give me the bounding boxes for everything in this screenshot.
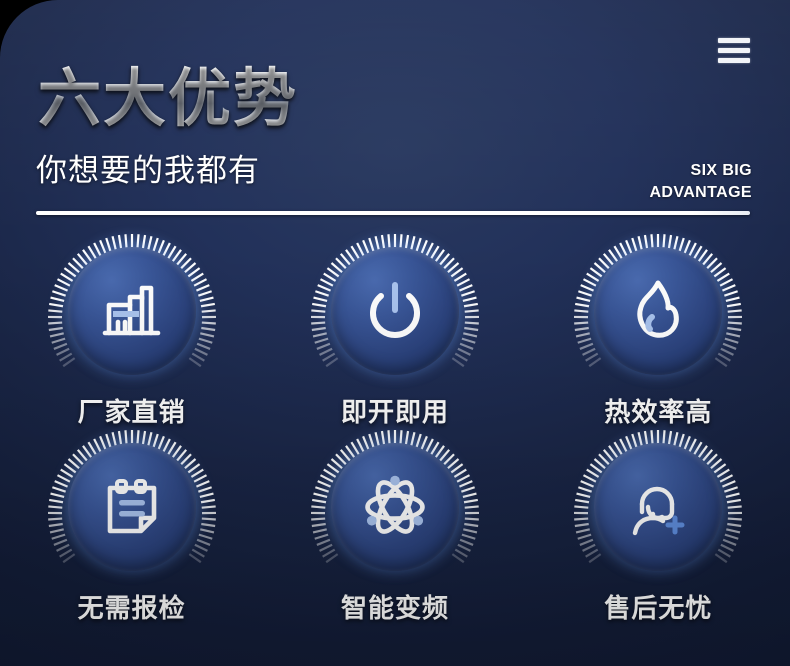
hamburger-bar-3 <box>718 58 750 63</box>
dial-gauge <box>572 428 744 586</box>
promo-banner: 六大优势 你想要的我都有 SIX BIG ADVANTAGE <box>0 0 790 666</box>
dial-gauge <box>309 428 481 586</box>
flame-icon <box>622 275 694 347</box>
feature-label: 无需报检 <box>78 592 186 624</box>
feature-label: 售后无忧 <box>604 592 712 624</box>
icon-disc <box>68 443 196 571</box>
eyebrow-line-2: ADVANTAGE <box>649 182 752 204</box>
page-subtitle: 你想要的我都有 <box>36 152 260 190</box>
hamburger-menu-icon[interactable] <box>718 38 750 63</box>
feature-label: 厂家直销 <box>78 396 186 428</box>
feature-item-no-inspection[interactable]: 无需报检 <box>0 428 263 624</box>
factory-icon <box>96 275 168 347</box>
hamburger-bar-2 <box>718 48 750 53</box>
feature-label: 智能变频 <box>341 592 449 624</box>
feature-item-plug-and-play[interactable]: 即开即用 <box>263 232 526 428</box>
feature-item-thermal-efficiency[interactable]: 热效率高 <box>527 232 790 428</box>
icon-disc <box>594 443 722 571</box>
headset-support-icon <box>622 471 694 543</box>
clipboard-note-icon <box>96 471 168 543</box>
power-button-icon <box>359 275 431 347</box>
feature-label: 热效率高 <box>604 396 712 428</box>
dial-gauge <box>46 232 218 390</box>
dial-gauge <box>309 232 481 390</box>
icon-disc <box>594 247 722 375</box>
banner-panel: 六大优势 你想要的我都有 SIX BIG ADVANTAGE <box>0 0 790 666</box>
icon-disc <box>68 247 196 375</box>
eyebrow-line-1: SIX BIG <box>649 160 752 182</box>
english-eyebrow: SIX BIG ADVANTAGE <box>649 160 752 204</box>
feature-label: 即开即用 <box>341 396 449 428</box>
icon-disc <box>331 443 459 571</box>
atom-icon <box>357 469 433 545</box>
dial-gauge <box>572 232 744 390</box>
hamburger-bar-1 <box>718 38 750 43</box>
icon-disc <box>331 247 459 375</box>
header-divider <box>36 211 750 215</box>
feature-item-smart-inverter[interactable]: 智能变频 <box>263 428 526 624</box>
dial-gauge <box>46 428 218 586</box>
feature-item-factory-direct[interactable]: 厂家直销 <box>0 232 263 428</box>
feature-grid: 厂家直销 即开即用 <box>0 232 790 624</box>
feature-item-after-sales[interactable]: 售后无忧 <box>527 428 790 624</box>
page-title: 六大优势 <box>38 62 298 136</box>
